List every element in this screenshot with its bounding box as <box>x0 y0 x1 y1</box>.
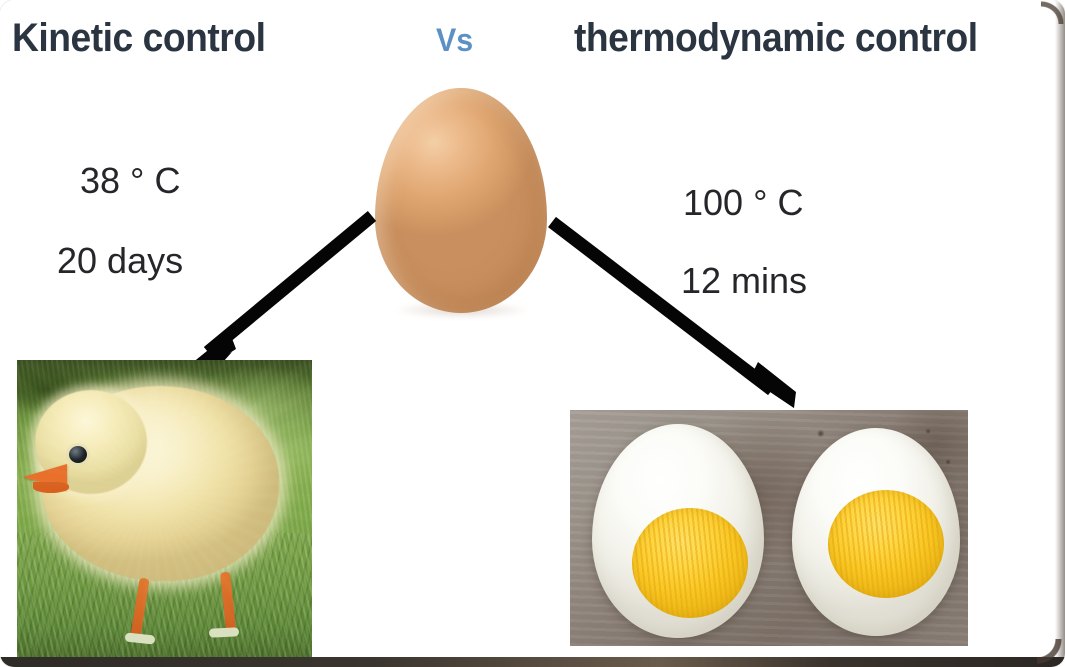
chick-eye <box>69 446 87 463</box>
title-kinetic-control: Kinetic control <box>12 16 265 61</box>
kinetic-time-label: 20 days <box>57 240 183 282</box>
card-right-edge <box>1055 0 1065 667</box>
egg-yolk-left <box>632 508 748 618</box>
title-versus-separator: Vs <box>436 22 473 59</box>
chick-foot-back <box>209 627 239 638</box>
boiled-egg-photo <box>570 410 968 646</box>
arrow-to-chick-icon <box>186 216 372 372</box>
egg-yolk-right <box>828 490 944 598</box>
slide-canvas: Kinetic control Vs thermodynamic control… <box>0 0 1065 667</box>
card-bottom-strip <box>0 657 1065 667</box>
chick-photo <box>17 360 312 658</box>
thermodynamic-temperature-label: 100 ° C <box>683 182 803 224</box>
kinetic-temperature-label: 38 ° C <box>80 160 180 202</box>
arrow-to-boiled-egg-icon <box>552 222 796 408</box>
boiled-egg-half-left <box>592 424 764 638</box>
title-row: Kinetic control Vs thermodynamic control <box>0 16 1065 72</box>
boiled-egg-half-right <box>792 428 960 636</box>
thermodynamic-time-label: 12 mins <box>681 260 807 302</box>
raw-egg-image <box>375 88 547 313</box>
egg-shell <box>375 88 547 313</box>
chick-beak-lower <box>33 482 69 493</box>
slide-card: Kinetic control Vs thermodynamic control… <box>0 0 1065 667</box>
title-thermodynamic-control: thermodynamic control <box>574 16 978 61</box>
